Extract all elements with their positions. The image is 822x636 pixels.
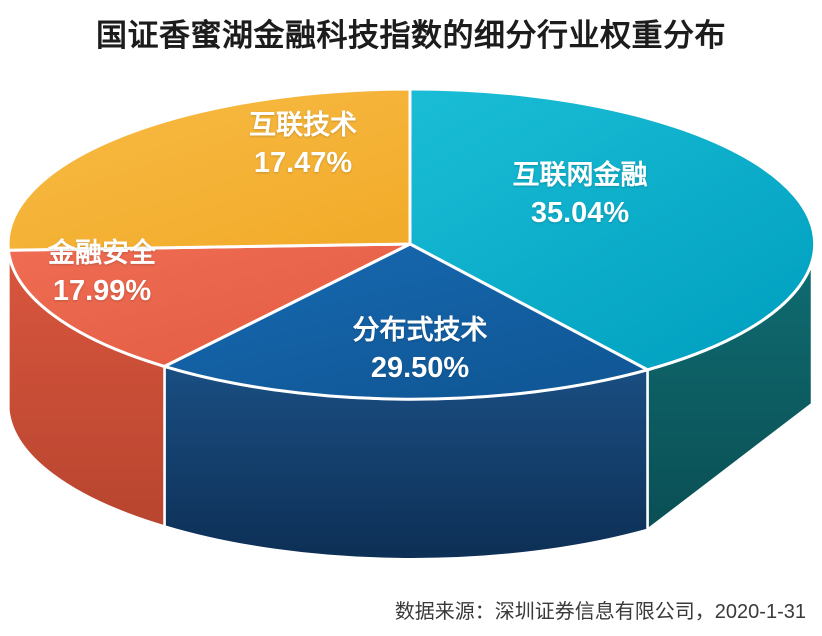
slice-top-internet-tech [8, 89, 410, 250]
pie-chart-graphic [0, 0, 822, 636]
source-note: 数据来源：深圳证券信息有限公司，2020-1-31 [0, 595, 822, 624]
chart-container: 国证香蜜湖金融科技指数的细分行业权重分布 [0, 0, 822, 636]
